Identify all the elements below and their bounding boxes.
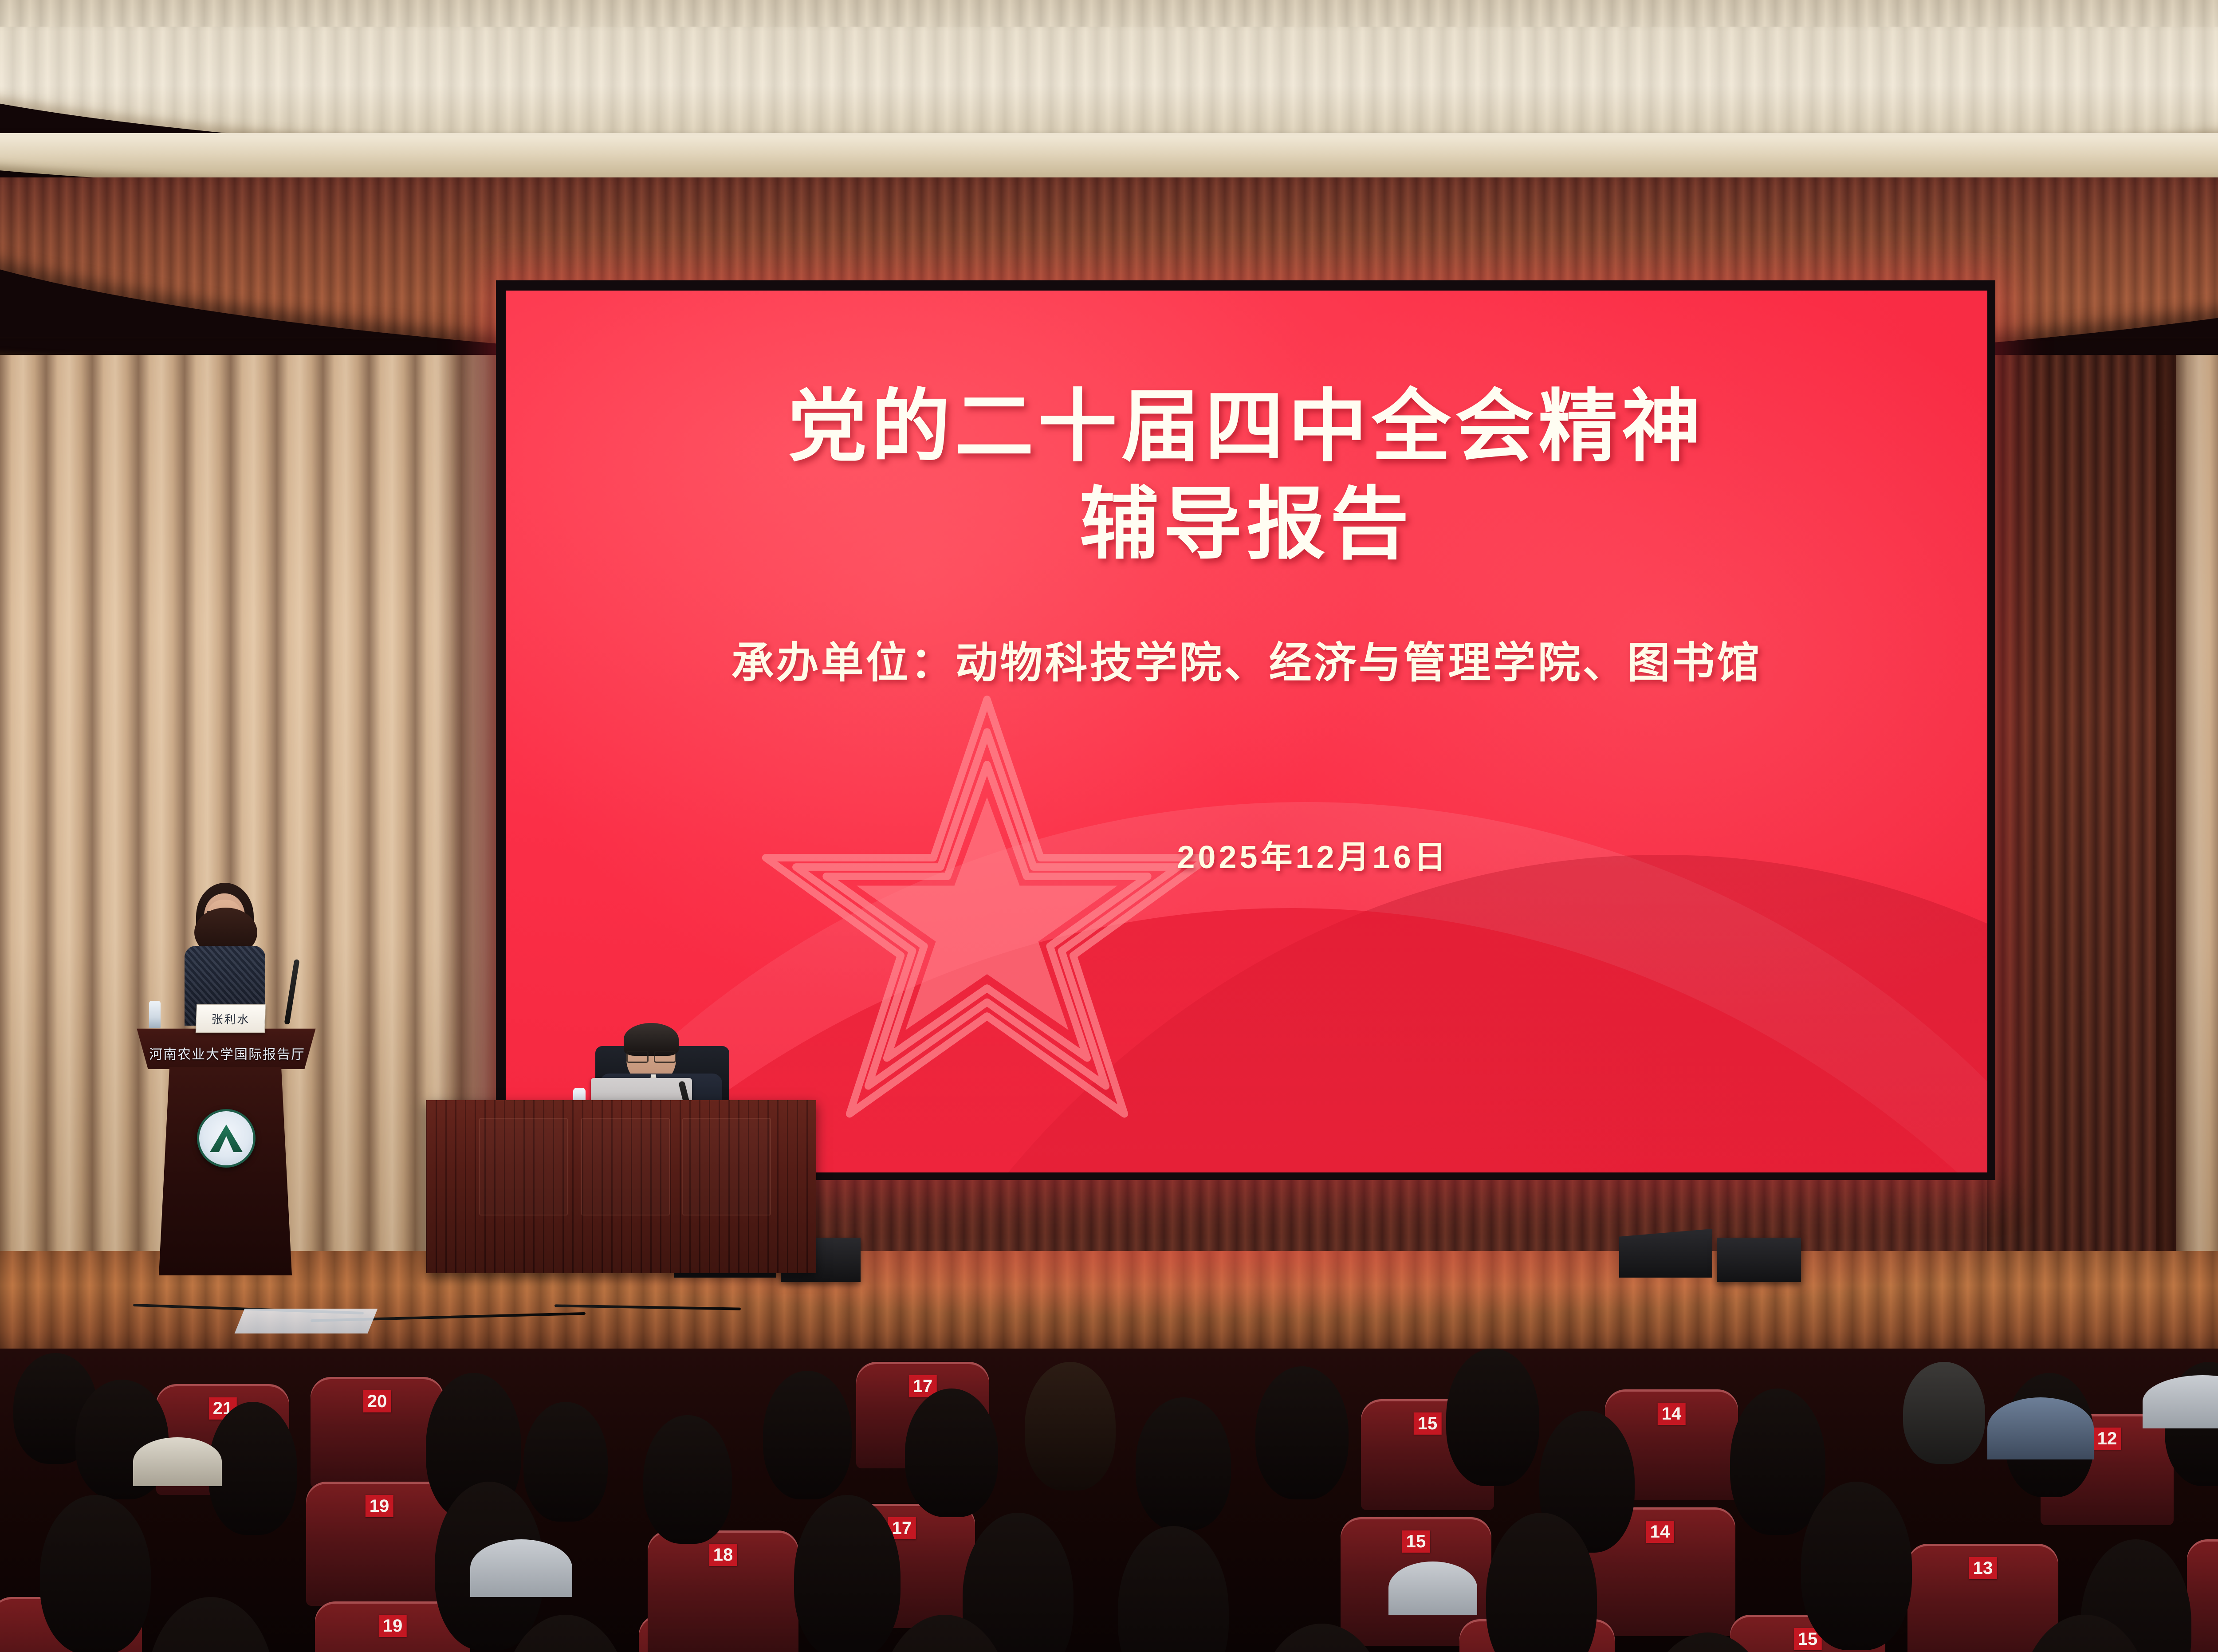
audience-head (794, 1495, 901, 1652)
podium-body (159, 1067, 292, 1275)
stage-monitor-speaker (1717, 1238, 1801, 1282)
seat-number: 19 (379, 1615, 407, 1637)
university-crest-icon (197, 1109, 256, 1168)
curtain-shadow-right (2156, 355, 2209, 1255)
auditorium-scene: 党的二十届四中全会精神 辅导报告 承办单位：动物科技学院、经济与管理学院、图书馆… (0, 0, 2218, 1652)
seat[interactable]: 13 (1907, 1544, 2058, 1652)
audience-head (146, 1597, 275, 1652)
audience-head (1903, 1362, 1985, 1464)
podium: 张利水 河南农业大学国际报告厅 (133, 1016, 319, 1291)
audience-head (1025, 1362, 1116, 1491)
audience-head (208, 1402, 297, 1535)
podium-inscription: 河南农业大学国际报告厅 (143, 1043, 311, 1063)
audience-seating-area: 21 20 17 15 14 12 19 17 15 14 13 (0, 1349, 2218, 1652)
audience-head (1255, 1366, 1349, 1499)
seat[interactable]: 18 (648, 1530, 798, 1652)
glasses-icon (626, 1050, 676, 1059)
audience-head (905, 1388, 998, 1517)
podium-nameplate-text: 张利水 (211, 1011, 250, 1027)
screen-title-line-1: 党的二十届四中全会精神 (788, 379, 1705, 474)
podium-nameplate: 张利水 (196, 1004, 266, 1033)
audience-head (1446, 1349, 1539, 1486)
audience-shoulders (470, 1539, 572, 1597)
water-bottle-icon (149, 1001, 161, 1028)
seat[interactable]: 12 (2187, 1539, 2218, 1652)
seat-number: 20 (363, 1390, 391, 1412)
seat-number: 13 (1969, 1557, 1997, 1579)
screen-subtitle: 承办单位：动物科技学院、经济与管理学院、图书馆 (731, 628, 1762, 690)
audience-head (523, 1402, 608, 1522)
audience-shoulders (2143, 1375, 2218, 1428)
head-table: 李剑力 (426, 1007, 816, 1273)
desk-panel (682, 1118, 771, 1215)
seat-number: 14 (1658, 1403, 1686, 1425)
floor-paper-sheet (235, 1309, 378, 1333)
audience-head (1118, 1526, 1229, 1652)
podium-speaker-person (174, 883, 276, 1025)
seat-number: 12 (2093, 1428, 2121, 1450)
seat-number: 19 (366, 1495, 393, 1517)
seat-number: 15 (1414, 1412, 1442, 1435)
seat[interactable]: 20 (311, 1377, 444, 1488)
audience-head (40, 1495, 151, 1652)
audience-head (1801, 1482, 1912, 1650)
crest-emblem-shape (210, 1125, 243, 1152)
seat[interactable]: 19 (306, 1482, 452, 1606)
audience-head (1136, 1397, 1231, 1530)
screen-date: 2025年12月16日 (1177, 831, 1449, 877)
seat-number: 15 (1402, 1530, 1430, 1553)
desk-panel (581, 1118, 670, 1215)
audience-head (643, 1415, 732, 1544)
audience-shoulders (133, 1437, 222, 1486)
seat-number: 14 (1646, 1521, 1674, 1543)
audience-shoulders (1388, 1562, 1477, 1615)
audience-head (763, 1371, 852, 1499)
seat-number: 18 (709, 1544, 737, 1566)
stage-monitor-speaker (1619, 1229, 1712, 1278)
desk-panel (479, 1118, 568, 1215)
audience-head (1730, 1388, 1825, 1535)
audience-shoulders (1987, 1397, 2094, 1459)
screen-title-line-2: 辅导报告 (1080, 477, 1413, 572)
